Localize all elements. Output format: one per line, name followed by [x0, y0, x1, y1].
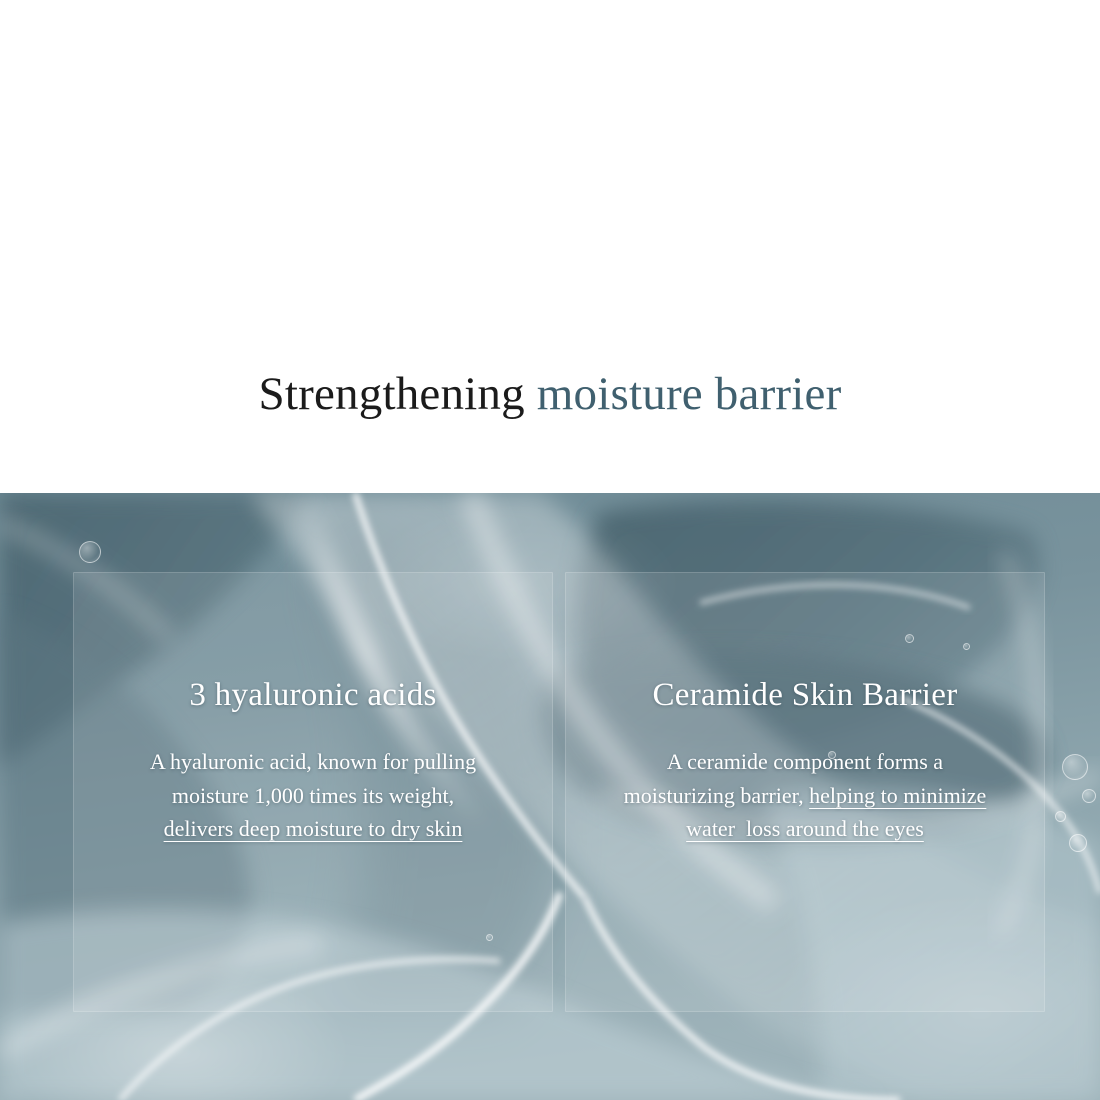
body-line-plain: moisturizing barrier, — [624, 783, 809, 808]
feature-card-body: A hyaluronic acid, known for pulling moi… — [136, 745, 490, 845]
body-line: moisture 1,000 times its weight, — [150, 779, 476, 812]
body-line-underlined: water loss around the eyes — [624, 812, 987, 845]
body-line: moisturizing barrier, helping to minimiz… — [624, 779, 987, 812]
feature-card-body: A ceramide component forms a moisturizin… — [610, 745, 1001, 845]
body-line: A hyaluronic acid, known for pulling — [150, 745, 476, 778]
water-background: 3 hyaluronic acids A hyaluronic acid, kn… — [0, 493, 1100, 1100]
feature-card-group: 3 hyaluronic acids A hyaluronic acid, kn… — [73, 572, 1045, 1012]
page-title-accent: moisture barrier — [537, 368, 842, 420]
body-line-underlined: delivers deep moisture to dry skin — [150, 812, 476, 845]
page-title: Strengthening moisture barrier — [259, 370, 842, 419]
page-title-primary: Strengthening — [259, 368, 537, 420]
body-line-underlined: helping to minimize — [809, 783, 986, 808]
feature-card-title: 3 hyaluronic acids — [189, 677, 436, 713]
body-line: A ceramide component forms a — [624, 745, 987, 778]
feature-card-ceramide[interactable]: Ceramide Skin Barrier A ceramide compone… — [565, 572, 1045, 1012]
feature-card-title: Ceramide Skin Barrier — [652, 677, 957, 713]
hero-band: Strengthening moisture barrier — [0, 0, 1100, 493]
product-feature-page: Strengthening moisture barrier — [0, 0, 1100, 1100]
feature-card-hyaluronic[interactable]: 3 hyaluronic acids A hyaluronic acid, kn… — [73, 572, 553, 1012]
